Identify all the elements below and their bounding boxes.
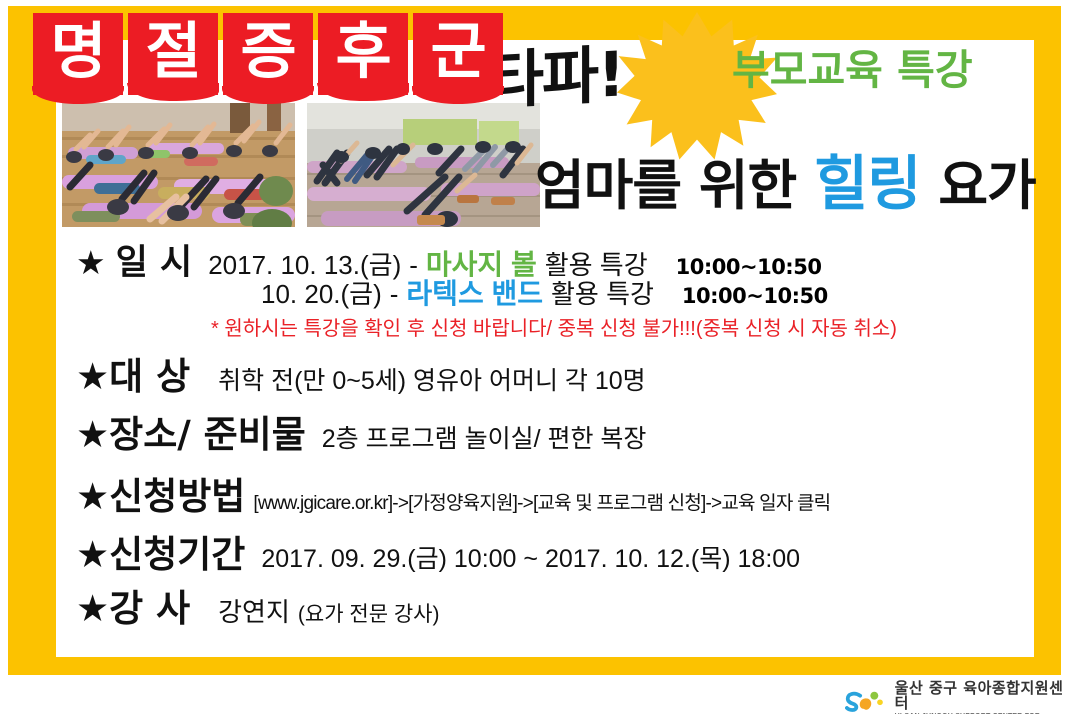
bullet-star-icon: ★ <box>76 413 109 456</box>
datetime-2-time: 10:00~10:50 <box>682 284 828 308</box>
info-row-apply-method: ★ 신청방법 [www.jgicare.or.kr]->[가정양육지원]->[교… <box>76 466 1036 524</box>
banner-char: 군 <box>430 13 485 91</box>
value-teacher-subtitle: (요가 전문 강사) <box>298 598 440 628</box>
bullet-star-icon: ★ <box>76 355 109 398</box>
value-apply-period: 2017. 09. 29.(금) 10:00 ~ 2017. 10. 12.(목… <box>261 539 800 575</box>
label-apply-period: 신청기간 <box>109 524 245 578</box>
banner-flag: 절 <box>128 13 218 95</box>
datetime-2-date: 10. 20.(금) <box>261 274 382 311</box>
info-block: ★ 일 시 2017. 10. 13.(금) - 마사지 볼 활용 특강 10:… <box>76 234 1036 628</box>
datetime-2-dash: - <box>390 279 399 310</box>
banner-flag: 군 <box>413 13 503 95</box>
info-row-place: ★ 장소/ 준비물 2층 프로그램 놀이실/ 편한 복장 <box>76 404 1036 466</box>
bullet-star-icon: ★ <box>76 475 109 518</box>
footer-logo-text: 울산 중구 육아종합지원센터 ULSAN JUNGGU SUPPORT CENT… <box>895 681 1075 714</box>
info-row-note: * 원하시는 특강을 확인 후 신청 바랍니다/ 중복 신청 불가!!!(중복 … <box>76 312 1036 346</box>
banner-flag: 명 <box>33 13 123 95</box>
info-row-target: ★ 대 상 취학 전(만 0~5세) 영유아 어머니 각 10명 <box>76 346 1036 404</box>
headline-main: 엄마를 위한 힐링 요가 <box>535 136 1036 221</box>
headline-main-suffix: 요가 <box>921 154 1036 217</box>
childcare-center-logo-icon <box>845 690 887 714</box>
duplicate-application-warning: * 원하시는 특강을 확인 후 신청 바랍니다/ 중복 신청 불가!!!(중복 … <box>211 312 897 341</box>
yoga-class-photo-1 <box>62 103 295 227</box>
value-apply-method[interactable]: [www.jgicare.or.kr]->[가정양육지원]->[교육 및 프로그… <box>253 488 830 515</box>
banner-char: 명 <box>50 13 105 91</box>
label-teacher: 강 사 <box>109 578 190 632</box>
value-target: 취학 전(만 0~5세) 영유아 어머니 각 10명 <box>218 361 646 397</box>
bullet-star-icon: ★ <box>76 587 109 630</box>
bullet-star-icon: ★ <box>76 533 109 576</box>
info-row-apply-period: ★ 신청기간 2017. 09. 29.(금) 10:00 ~ 2017. 10… <box>76 524 1036 578</box>
banner-flag: 증 <box>223 13 313 95</box>
yoga-class-photo-2 <box>307 103 540 227</box>
footer-logo-korean: 울산 중구 육아종합지원센터 <box>895 681 1075 711</box>
headline-main-prefix: 엄마를 위한 <box>535 154 814 217</box>
label-place: 장소/ 준비물 <box>109 404 306 458</box>
banner-char: 후 <box>335 13 390 91</box>
banner-flag: 후 <box>318 13 408 95</box>
value-teacher-name: 강연지 <box>218 592 290 629</box>
datetime-2-program: 라텍스 밴드 <box>406 272 543 312</box>
info-row-teacher: ★ 강 사 강연지 (요가 전문 강사) <box>76 578 1036 628</box>
banner-myeongjeol-jeunghugun: 명 절 증 후 군 <box>33 13 503 95</box>
banner-char: 증 <box>240 13 295 91</box>
info-row-datetime-2: 10. 20.(금) - 라텍스 밴드 활용 특강 10:00~10:50 <box>76 272 1036 312</box>
label-apply-method: 신청방법 <box>109 466 245 520</box>
value-place: 2층 프로그램 놀이실/ 편한 복장 <box>322 419 647 455</box>
banner-char: 절 <box>145 13 200 91</box>
poster-root: 명 절 증 후 군 타파! 부모교육 특강 엄마를 위한 힐링 요가 <box>0 0 1075 714</box>
label-target: 대 상 <box>109 346 190 400</box>
headline-burst-word: 타파! <box>487 23 623 120</box>
datetime-2-suffix: 활용 특강 <box>551 274 654 311</box>
info-row-datetime: ★ 일 시 2017. 10. 13.(금) - 마사지 볼 활용 특강 10:… <box>76 234 1036 272</box>
headline-green-line: 부모교육 특강 <box>732 36 973 96</box>
footer-logo: 울산 중구 육아종합지원센터 ULSAN JUNGGU SUPPORT CENT… <box>845 681 1075 714</box>
headline-main-highlight: 힐링 <box>814 149 921 218</box>
